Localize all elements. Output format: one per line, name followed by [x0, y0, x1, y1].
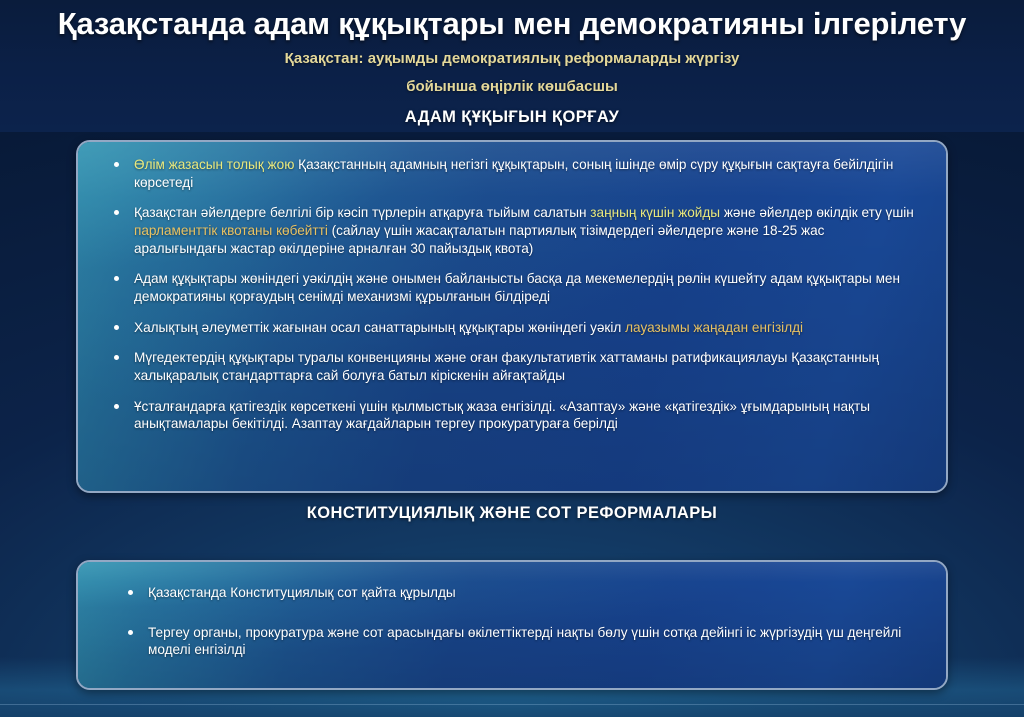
bullet-dot-icon	[128, 630, 133, 635]
section-heading-wrap-constitutional: КОНСТИТУЦИЯЛЫҚ ЖӘНЕ СОТ РЕФОРМАЛАРЫ	[0, 504, 1024, 523]
bullet-list-human-rights: Өлім жазасын толық жою Қазақстанның адам…	[110, 156, 920, 433]
bullet-dot-icon	[114, 355, 119, 360]
panel-content-constitutional: Қазақстанда Конституциялық сот қайта құр…	[78, 562, 946, 688]
bullet-text: Ұсталғандарға қатігездік көрсеткені үшін…	[134, 399, 870, 432]
subtitle-line-1: Қазақстан: ауқымды демократиялық реформа…	[0, 51, 1024, 66]
bullet-dot-icon	[128, 590, 133, 595]
bullet-dot-icon	[114, 404, 119, 409]
slide-header: Қазақстанда адам құқықтары мен демократи…	[0, 0, 1024, 127]
bullet-text: Адам құқықтары жөніндегі уәкілдің және о…	[134, 271, 900, 304]
bullet-dot-icon	[114, 325, 119, 330]
bullet-text: Мүгедектердің құқықтары туралы конвенция…	[134, 350, 879, 383]
bullet-text: Қазақстан әйелдерге белгілі бір кәсіп тү…	[134, 205, 590, 220]
list-item: Тергеу органы, прокуратура және сот арас…	[124, 624, 920, 659]
bullet-dot-icon	[114, 162, 119, 167]
bottom-divider	[0, 704, 1024, 705]
list-item: Қазақстан әйелдерге белгілі бір кәсіп тү…	[110, 204, 920, 257]
bullet-list-constitutional: Қазақстанда Конституциялық сот қайта құр…	[124, 584, 920, 659]
bullet-text: Қазақстанда Конституциялық сот қайта құр…	[148, 585, 456, 600]
highlighted-text-yellow: Өлім жазасын толық жою	[134, 157, 294, 172]
list-item: Қазақстанда Конституциялық сот қайта құр…	[124, 584, 920, 602]
bullet-text: Халықтың әлеуметтік жағынан осал санатта…	[134, 320, 625, 335]
list-item: Өлім жазасын толық жою Қазақстанның адам…	[110, 156, 920, 191]
panel-content-human-rights: Өлім жазасын толық жою Қазақстанның адам…	[78, 142, 946, 491]
highlighted-text-yellow: заңның күшін жойды	[590, 205, 720, 220]
list-item: Мүгедектердің құқықтары туралы конвенция…	[110, 349, 920, 384]
list-item: Халықтың әлеуметтік жағынан осал санатта…	[110, 319, 920, 337]
page-title: Қазақстанда адам құқықтары мен демократи…	[0, 0, 1024, 40]
section-heading-constitutional-reforms: КОНСТИТУЦИЯЛЫҚ ЖӘНЕ СОТ РЕФОРМАЛАРЫ	[0, 504, 1024, 523]
highlighted-text-gold: парламенттік квотаны көбейтті	[134, 223, 328, 238]
panel-human-rights: Өлім жазасын толық жою Қазақстанның адам…	[76, 140, 948, 493]
section-heading-human-rights: АДАМ ҚҰҚЫҒЫН ҚОРҒАУ	[0, 108, 1024, 127]
bullet-dot-icon	[114, 276, 119, 281]
highlighted-text-gold: лауазымы жаңадан енгізілді	[625, 320, 803, 335]
bullet-text: және әйелдер өкілдік ету үшін	[720, 205, 914, 220]
subtitle-line-2: бойынша өңірлік көшбасшы	[0, 79, 1024, 94]
bullet-dot-icon	[114, 210, 119, 215]
panel-constitutional-reforms: Қазақстанда Конституциялық сот қайта құр…	[76, 560, 948, 690]
list-item: Адам құқықтары жөніндегі уәкілдің және о…	[110, 270, 920, 305]
bullet-text: Тергеу органы, прокуратура және сот арас…	[148, 625, 901, 658]
list-item: Ұсталғандарға қатігездік көрсеткені үшін…	[110, 398, 920, 433]
